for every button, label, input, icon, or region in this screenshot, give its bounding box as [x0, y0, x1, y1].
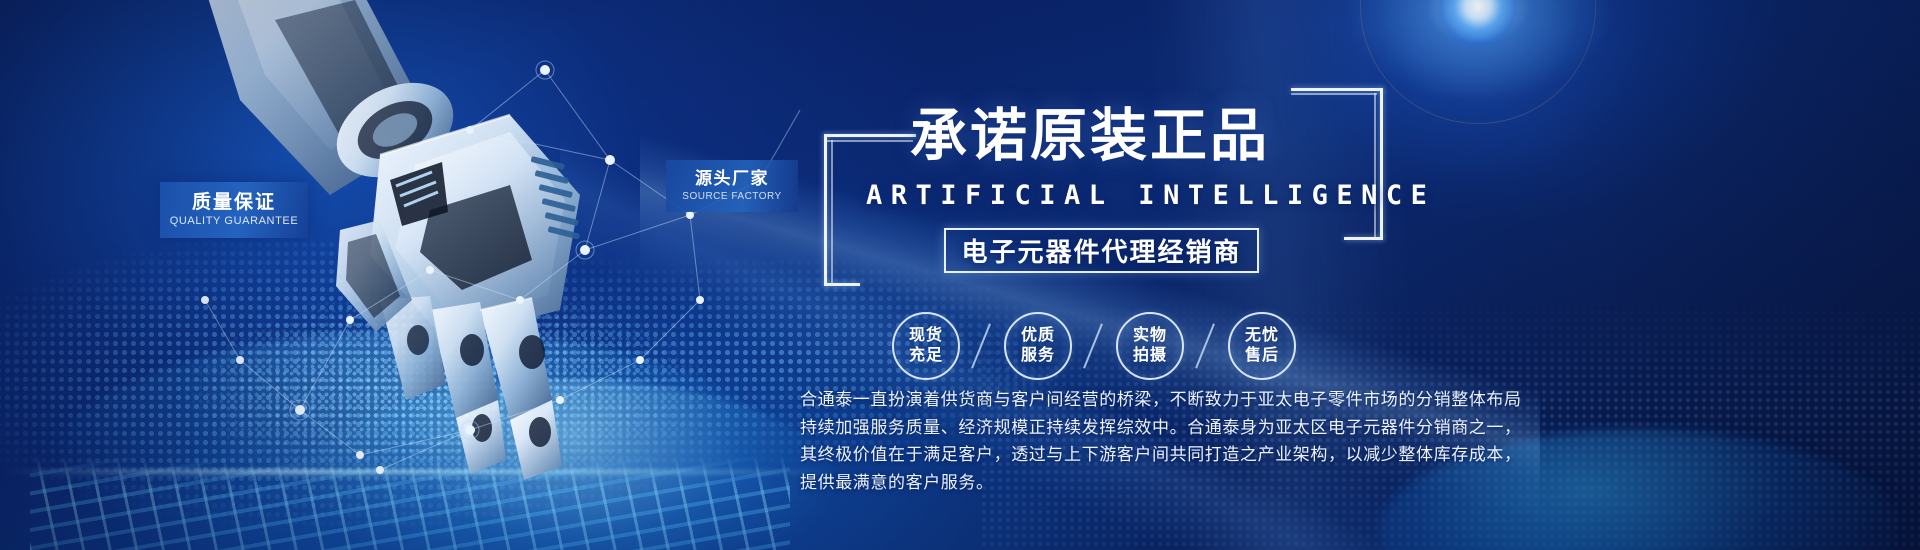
burst-core-icon [1438, 0, 1518, 46]
frame-top-left-horizontal-inner [827, 140, 913, 142]
company-description-paragraph: 合通泰一直扮演着供货商与客户间经营的桥梁，不断致力于亚太电子零件市场的分销整体布… [800, 386, 1616, 496]
feature-circle-real-photo: 实物 拍摄 [1116, 312, 1184, 380]
frame-top-right-horizontal [1291, 88, 1383, 91]
feature-circle-list: 现货 充足 优质 服务 实物 拍摄 无忧 售后 [892, 310, 1372, 382]
frame-left-vertical-inner [831, 140, 833, 286]
badge-quality-guarantee: 质量保证 QUALITY GUARANTEE [160, 182, 308, 238]
hero-banner: 质量保证 QUALITY GUARANTEE 源头厂家 SOURCE FACTO… [0, 0, 1920, 550]
separator-slash-icon-3 [1184, 312, 1228, 380]
robot-hand-illustration [180, 0, 740, 500]
headline-subtitle-box: 电子元器件代理经销商 [944, 228, 1259, 273]
badge-source-factory-en: SOURCE FACTORY [682, 191, 781, 202]
feature-circle-stock: 现货 充足 [892, 312, 960, 380]
wave-crest-two [300, 380, 840, 550]
frame-right-vertical [1380, 88, 1383, 240]
frame-bottom-left-horizontal [824, 283, 860, 286]
burst-lens-ring-icon [1360, 0, 1596, 124]
frame-top-left-horizontal [824, 134, 916, 137]
feature-circle-after-sales-line1: 无忧 [1245, 326, 1279, 346]
headline-subtitle-text: 电子元器件代理经销商 [961, 232, 1241, 269]
company-description-line-1: 合通泰一直扮演着供货商与客户间经营的桥梁，不断致力于亚太电子零件市场的分销整体布… [800, 386, 1616, 414]
headline-title-english: ARTIFICIAL INTELLIGENCE [866, 180, 1435, 211]
feature-circle-stock-line1: 现货 [909, 326, 943, 346]
feature-circle-real-photo-line1: 实物 [1133, 326, 1167, 346]
company-description-line-4: 提供最满意的客户服务。 [800, 469, 1616, 497]
badge-source-factory: 源头厂家 SOURCE FACTORY [666, 160, 798, 212]
wave-crest-one [40, 330, 800, 550]
headline-title-chinese: 承诺原装正品 [910, 90, 1270, 172]
feature-circle-real-photo-line2: 拍摄 [1133, 346, 1167, 366]
frame-left-vertical [824, 134, 827, 286]
separator-slash-icon-2 [1072, 312, 1116, 380]
feature-circle-service-line2: 服务 [1021, 346, 1055, 366]
feature-circle-service-line1: 优质 [1021, 326, 1055, 346]
feature-circle-after-sales: 无忧 售后 [1228, 312, 1296, 380]
horizon-glow-line [0, 470, 840, 474]
frame-right-vertical-inner [1374, 93, 1376, 238]
company-description-line-2: 持续加强服务质量、经济规模正持续发挥综效中。合通泰身为亚太区电子元器件分销商之一… [800, 414, 1616, 442]
feature-circle-after-sales-line2: 售后 [1245, 346, 1279, 366]
feature-circle-stock-line2: 充足 [909, 346, 943, 366]
badge-quality-guarantee-cn: 质量保证 [192, 193, 276, 214]
badge-quality-guarantee-en: QUALITY GUARANTEE [170, 215, 299, 227]
frame-top-right-horizontal-inner [1291, 93, 1377, 95]
headline-group: 承诺原装正品 ARTIFICIAL INTELLIGENCE 电子元器件代理经销… [824, 96, 1384, 286]
company-description-line-3: 其终极价值在于满足客户，透过与上下游客户间共同打造之产业架构，以减少整体库存成本… [800, 441, 1616, 469]
halftone-dot-wave-crest [120, 300, 880, 550]
frame-bottom-right-horizontal [1344, 237, 1383, 240]
separator-slash-icon-1 [960, 312, 1004, 380]
badge-source-factory-cn: 源头厂家 [695, 170, 769, 189]
cube-grid-ground-decoration [30, 455, 790, 550]
wave-glow-bottom-left [0, 430, 580, 550]
feature-circle-service: 优质 服务 [1004, 312, 1072, 380]
